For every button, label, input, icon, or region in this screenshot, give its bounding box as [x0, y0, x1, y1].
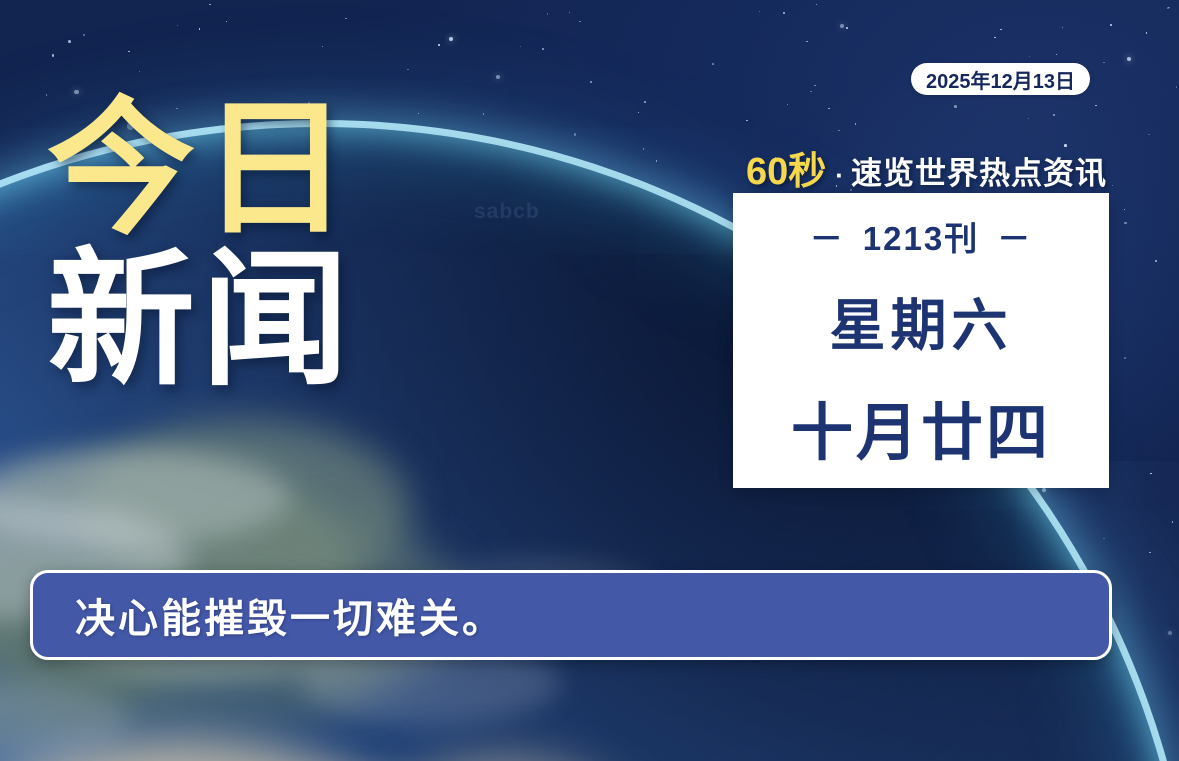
tagline-separator: · [835, 160, 844, 191]
date-badge: 2025年12月13日 [911, 63, 1090, 95]
issue-dash-left: － [810, 212, 845, 260]
issue-card: － 1213刊 － 星期六 十月廿四 [733, 193, 1109, 488]
tagline-text: 速览世界热点资讯 [851, 148, 1107, 193]
news-poster: sabcb 2025年12月13日 今日 新闻 60秒 · 速览世界热点资讯 －… [0, 0, 1179, 761]
title-line-1: 今日 [47, 97, 355, 242]
watermark-text: sabcb [474, 200, 540, 224]
issue-dash-right: － [997, 212, 1032, 260]
page-title: 今日 新闻 [47, 97, 355, 393]
quote-text: 决心能摧毁一切难关。 [75, 586, 505, 644]
tagline-seconds: 60秒 [746, 140, 826, 195]
title-line-2: 新闻 [47, 248, 355, 393]
issue-row: － 1213刊 － [810, 212, 1032, 260]
lunar-date-label: 十月廿四 [791, 382, 1051, 472]
tagline: 60秒 · 速览世界热点资讯 [746, 140, 1107, 195]
quote-bar: 决心能摧毁一切难关。 [30, 570, 1112, 660]
issue-number: 1213刊 [863, 212, 979, 260]
weekday-label: 星期六 [830, 281, 1013, 362]
